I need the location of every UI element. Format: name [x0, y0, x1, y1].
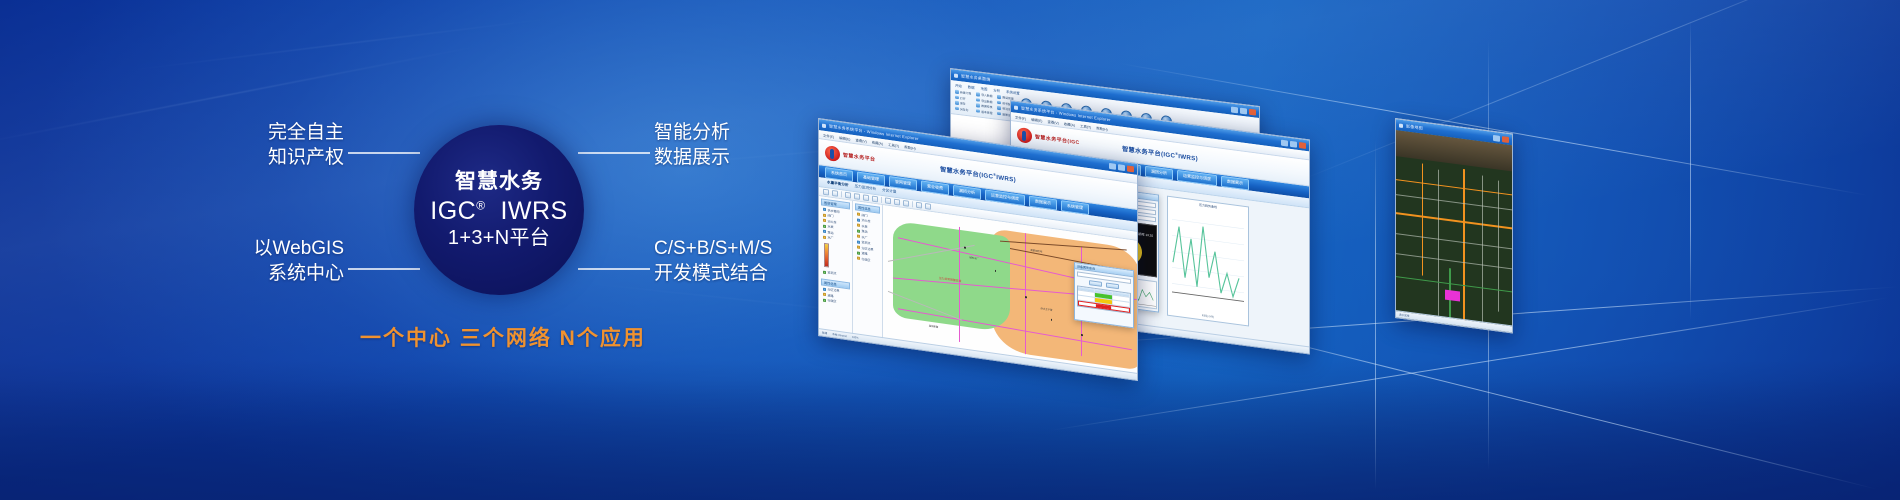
tree-item-label: 泵站 [862, 229, 868, 234]
ribbon-item-label: 版本管理 [981, 109, 992, 114]
query-button[interactable] [1089, 280, 1102, 287]
close-icon[interactable] [1299, 142, 1306, 149]
layers-icon [997, 95, 1001, 99]
node-icon [857, 245, 860, 248]
minimize-icon[interactable] [1493, 134, 1500, 141]
map-road-minor [1498, 181, 1499, 312]
save-icon [955, 101, 959, 105]
app-title-end: IWRS) [996, 174, 1016, 184]
layer-icon [823, 235, 826, 238]
menu-help[interactable]: 帮助(H) [1096, 125, 1108, 132]
status-text: 选中区域 [1399, 313, 1409, 318]
app-title-main: 智慧水务平台(IGC [940, 166, 993, 180]
print-icon[interactable] [916, 202, 922, 209]
app-title: 智慧水务平台(IGC®IWRS) [940, 164, 1016, 184]
ribbon-group: 导入数据 导出数据 数据校核 版本管理 [976, 92, 992, 114]
layer-icon [823, 224, 826, 227]
save-as-icon [955, 106, 959, 110]
toolbar-separator [881, 197, 882, 203]
sub-item-metering[interactable]: 分区计量 [882, 188, 896, 195]
layer-icon [823, 213, 826, 216]
menu-tools[interactable]: 工具(T) [1080, 123, 1091, 129]
company-logo-icon [825, 145, 840, 162]
tree-item-label: 泵站 [828, 230, 834, 235]
window-icon [1399, 123, 1403, 128]
select-icon[interactable] [872, 196, 878, 203]
map-road-minor [1396, 254, 1512, 270]
circle-brand: IGC® IWRS [430, 197, 567, 226]
map-road-vertical [1463, 169, 1465, 326]
tree-item-label: 水表 [862, 224, 868, 229]
logo-text: 智慧水务平台(IGC [1035, 133, 1080, 146]
tree-item-label: 行政区 [862, 257, 871, 262]
ribbon-item-label: 数据校核 [981, 104, 992, 109]
toolbar-separator [912, 201, 913, 207]
ribbon-item-label: 新建工程 [960, 90, 971, 95]
check-icon [976, 103, 980, 107]
window-controls[interactable] [1231, 106, 1256, 115]
save-icon[interactable] [832, 190, 838, 197]
tree-item-label: 水厂 [828, 235, 834, 240]
ribbon-tab[interactable]: 系统设置 [1006, 89, 1020, 96]
tree-item[interactable]: 监测点 [821, 269, 850, 277]
ribbon-item-label: 保存 [960, 101, 966, 106]
tree-item-label: 道路 [828, 293, 834, 298]
map-node [995, 270, 996, 272]
tree-item-label: 水表 [828, 224, 834, 229]
tree-item-label: 监测点 [828, 270, 837, 275]
ribbon-item-label: 导出数据 [981, 98, 992, 103]
ribbon-tab[interactable]: 分析 [993, 87, 1000, 93]
donut-value-label: 漏损率 13.25 [1136, 232, 1153, 238]
layer-icon [823, 219, 826, 222]
zoom-out-icon[interactable] [854, 193, 860, 200]
layer-icon [823, 208, 826, 211]
satellite-map-canvas[interactable] [1396, 130, 1512, 332]
node-icon [857, 218, 860, 221]
app-title-end: IWRS) [1178, 153, 1198, 163]
ribbon-tab[interactable]: 开始 [955, 83, 962, 89]
map-road-minor [1396, 194, 1512, 210]
registered-icon: ® [476, 198, 485, 212]
center-circle-badge: 智慧水务 IGC® IWRS 1+3+N平台 [414, 125, 584, 295]
export-icon [976, 98, 980, 102]
ribbon-tab[interactable]: 数据 [968, 84, 975, 90]
app-window-satellite[interactable]: 影像地图 选中区域 [1395, 118, 1513, 334]
connector-top-left [348, 152, 420, 154]
circle-subtitle: 1+3+N平台 [448, 226, 550, 250]
close-icon[interactable] [1127, 165, 1134, 172]
tree-item-label: 监测点 [862, 240, 871, 245]
import-icon [976, 92, 980, 96]
ribbon-item-label: 导入数据 [981, 93, 992, 98]
maximize-icon[interactable] [1118, 164, 1125, 171]
minimize-icon[interactable] [1231, 106, 1238, 113]
app-title: 智慧水务平台(IGC®IWRS) [1122, 144, 1198, 163]
td-level [1112, 306, 1129, 311]
tree-item-label: 消火栓 [862, 218, 871, 223]
layer-icon[interactable] [925, 203, 931, 210]
menu-file[interactable]: 文件(F) [823, 132, 834, 139]
line-chart-svg [1168, 203, 1248, 315]
label-top-left-line2: 知识产权 [184, 145, 344, 170]
label-bottom-left-line2: 系统中心 [164, 261, 344, 286]
status-ready: 就绪 [822, 331, 827, 336]
symbol-icon [997, 101, 1001, 105]
attr-icon [823, 293, 826, 296]
tree-item-label: 行政区 [828, 298, 837, 303]
map-road-green [1396, 276, 1512, 292]
map-node [964, 247, 965, 249]
map-node [1025, 296, 1026, 298]
status-badge [1096, 304, 1113, 309]
folder-icon [955, 95, 959, 99]
connector-top-right [578, 152, 650, 154]
status-zoom: 100% [852, 335, 859, 339]
node-icon [857, 229, 860, 232]
layer-icon [823, 230, 826, 233]
ribbon-item-label: 另存为 [960, 107, 968, 112]
menu-favorites[interactable]: 收藏(A) [872, 139, 883, 146]
menu-view[interactable]: 查看(V) [1047, 118, 1058, 124]
map-node [1081, 334, 1082, 336]
label-icon [997, 106, 1001, 110]
minimize-icon[interactable] [1109, 162, 1116, 169]
td-site [1079, 302, 1096, 307]
measure-icon[interactable] [885, 197, 891, 204]
toolbar-separator [841, 191, 842, 197]
zoom-in-icon[interactable] [845, 192, 851, 199]
tagline: 一个中心 三个网络 N个应用 [360, 322, 646, 352]
perspective-line-vertical [1690, 20, 1691, 320]
node-icon [857, 240, 860, 243]
line-chart-panel: 压力趋势曲线 时间(小时) [1167, 196, 1249, 327]
node-icon [857, 256, 860, 259]
query-icon[interactable] [903, 200, 909, 207]
menu-edit[interactable]: 编辑(E) [839, 134, 850, 141]
attr-icon [823, 287, 826, 290]
legend-color-ramp [824, 242, 829, 267]
menu-edit[interactable]: 编辑(E) [1031, 116, 1042, 122]
version-icon [976, 109, 980, 113]
concept-diagram: 完全自主 知识产权 智能分析 数据展示 以WebGIS 系统中心 C/S+B/S… [0, 0, 820, 500]
layer-tree-panel[interactable]: 图层管理 供水管网 阀门 消火栓 水表 泵站 水厂 监测点 属性信息 分区边界 … [819, 196, 853, 338]
ribbon-group: 新建工程 打开 保存 另存为 [955, 90, 971, 112]
identify-icon[interactable] [894, 199, 900, 206]
window-icon [1014, 105, 1018, 110]
window-title: 影像地图 [1406, 123, 1423, 131]
map-road-vertical [1422, 163, 1424, 275]
map-road-horizontal [1396, 179, 1512, 196]
label-bottom-left-line1: 以WebGIS [164, 236, 344, 261]
tree-item-label: 阀门 [828, 213, 834, 218]
perspective-line [1300, 0, 1857, 181]
reset-button[interactable] [1106, 283, 1119, 290]
connector-bottom-left [348, 268, 420, 270]
circle-brand-iwrs: IWRS [500, 197, 567, 225]
open-icon[interactable] [823, 189, 829, 196]
menu-file[interactable]: 文件(F) [1015, 114, 1026, 120]
node-icon [857, 251, 860, 254]
layer-icon [823, 270, 826, 273]
map-label: 监测断面 [929, 324, 939, 329]
window-controls[interactable] [1281, 139, 1306, 148]
perspective-line-vertical [1375, 140, 1376, 490]
sub-item-balance[interactable]: 水量平衡分析 [827, 180, 849, 188]
tree-item-label: 水厂 [862, 235, 868, 240]
label-top-left: 完全自主 知识产权 [184, 120, 344, 171]
map-road-horizontal [1396, 212, 1512, 229]
menu-help[interactable]: 帮助(H) [904, 144, 916, 151]
map-node [1051, 319, 1052, 321]
node-icon [857, 212, 860, 215]
status-zone: 本地 Intranet [832, 332, 847, 338]
window-icon [954, 73, 958, 77]
close-icon[interactable] [1249, 108, 1256, 115]
ribbon-item[interactable]: 另存为 [955, 106, 971, 112]
window-controls[interactable] [1493, 134, 1509, 142]
tree-item-label: 消火栓 [828, 219, 837, 224]
device-query-dialog[interactable]: 设备属性查询 [1074, 262, 1134, 328]
connector-bottom-right [578, 268, 650, 270]
menu-tools[interactable]: 工具(T) [888, 141, 899, 148]
circle-brand-igc: IGC [430, 197, 476, 225]
label-bottom-left: 以WebGIS 系统中心 [164, 236, 344, 287]
tree-item-label: 道路 [862, 251, 868, 256]
banner-root: 完全自主 知识产权 智能分析 数据展示 以WebGIS 系统中心 C/S+B/S… [0, 0, 1900, 500]
circle-title: 智慧水务 [455, 170, 543, 193]
logo-text: 智慧水务平台 [843, 152, 875, 164]
label-top-left-line1: 完全自主 [184, 120, 344, 145]
maximize-icon[interactable] [1290, 140, 1297, 147]
maximize-icon[interactable] [1240, 107, 1247, 114]
pan-icon[interactable] [863, 194, 869, 201]
map-road-minor [1482, 175, 1483, 321]
app-title-main: 智慧水务平台(IGC [1122, 146, 1175, 160]
menu-favorites[interactable]: 收藏(A) [1064, 121, 1075, 127]
ribbon-item-label: 打开 [960, 96, 966, 101]
map-road-minor [1438, 169, 1439, 315]
sub-item-pressure[interactable]: 压力监测分析 [855, 184, 877, 192]
tree-item-label: 阀门 [862, 213, 868, 218]
projection-icon [997, 112, 1001, 116]
file-icon [955, 90, 959, 94]
map-highlight-area[interactable] [1445, 290, 1460, 301]
app-window-gis[interactable]: 智慧水务系统平台 - Windows Internet Explorer 文件(… [818, 118, 1138, 381]
node-icon [857, 234, 860, 237]
node-icon [857, 223, 860, 226]
map-pipe [959, 227, 960, 342]
minimize-icon[interactable] [1281, 139, 1288, 146]
feature-tree-panel[interactable]: 属性信息 阀门 消火栓 水表 泵站 水厂 监测点 分区边界 道路 行政区 [853, 201, 883, 342]
menu-view[interactable]: 查看(V) [855, 137, 866, 144]
ribbon-item[interactable]: 版本管理 [976, 109, 992, 115]
attr-icon [823, 298, 826, 301]
company-logo-icon [1017, 127, 1032, 144]
close-icon[interactable] [1502, 136, 1509, 143]
ribbon-tab[interactable]: 地图 [981, 86, 988, 92]
window-icon [822, 123, 826, 128]
map-road-minor [1396, 233, 1512, 249]
